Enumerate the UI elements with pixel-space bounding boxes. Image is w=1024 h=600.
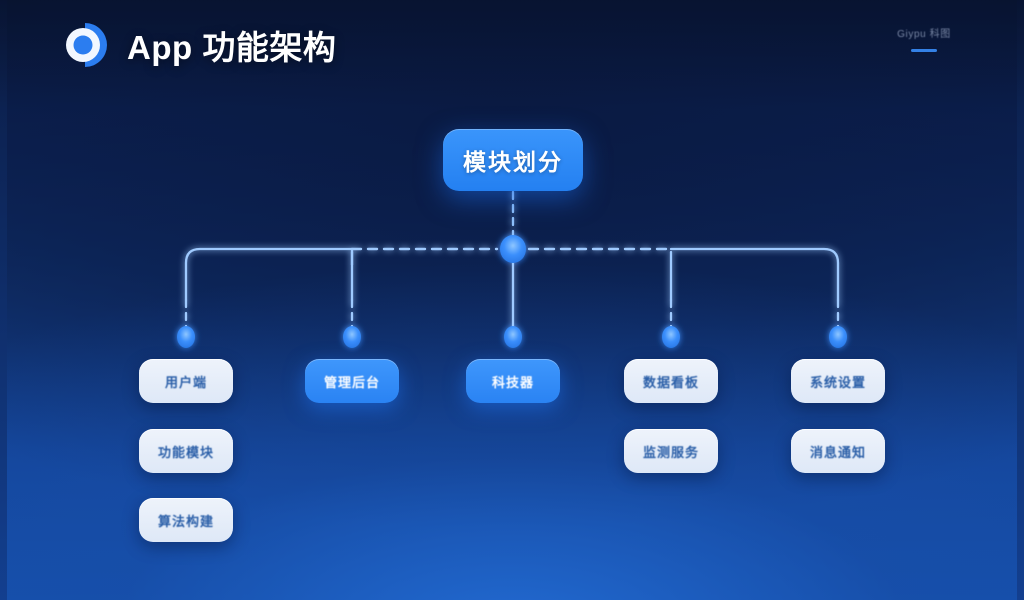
node-r2c1-label: 功能模块 — [158, 442, 214, 461]
node-r1c1-label: 用户端 — [165, 372, 207, 391]
slide-canvas: App 功能架构 Giypu 科图 — [0, 0, 1024, 600]
node-r1c5-label: 系统设置 — [810, 372, 866, 391]
app-logo-circle-icon — [60, 20, 110, 70]
node-r1c2-label: 管理后台 — [324, 372, 380, 391]
node-r3c1-label: 算法构建 — [158, 511, 214, 530]
node-r1c3-label: 科技器 — [492, 372, 534, 391]
page-title: App 功能架构 — [127, 21, 336, 69]
node-root[interactable]: 模块划分 — [443, 129, 583, 191]
node-r3c1[interactable]: 算法构建 — [139, 498, 233, 542]
brand-block: App 功能架构 — [60, 20, 336, 70]
watermark-underline — [911, 49, 937, 52]
node-r2c5-label: 消息通知 — [810, 442, 866, 461]
watermark: Giypu 科图 — [864, 25, 984, 52]
node-r1c4-label: 数据看板 — [643, 372, 699, 391]
watermark-text: Giypu 科图 — [864, 25, 984, 40]
node-r1c4[interactable]: 数据看板 — [624, 359, 718, 403]
node-r1c3[interactable]: 科技器 — [466, 359, 560, 403]
slide-header: App 功能架构 Giypu 科图 — [0, 0, 1024, 96]
node-r1c2[interactable]: 管理后台 — [305, 359, 399, 403]
node-root-label: 模块划分 — [463, 143, 563, 177]
node-r2c4[interactable]: 监测服务 — [624, 429, 718, 473]
node-r1c5[interactable]: 系统设置 — [791, 359, 885, 403]
node-r2c5[interactable]: 消息通知 — [791, 429, 885, 473]
node-r2c4-label: 监测服务 — [643, 442, 699, 461]
node-r1c1[interactable]: 用户端 — [139, 359, 233, 403]
node-r2c1[interactable]: 功能模块 — [139, 429, 233, 473]
